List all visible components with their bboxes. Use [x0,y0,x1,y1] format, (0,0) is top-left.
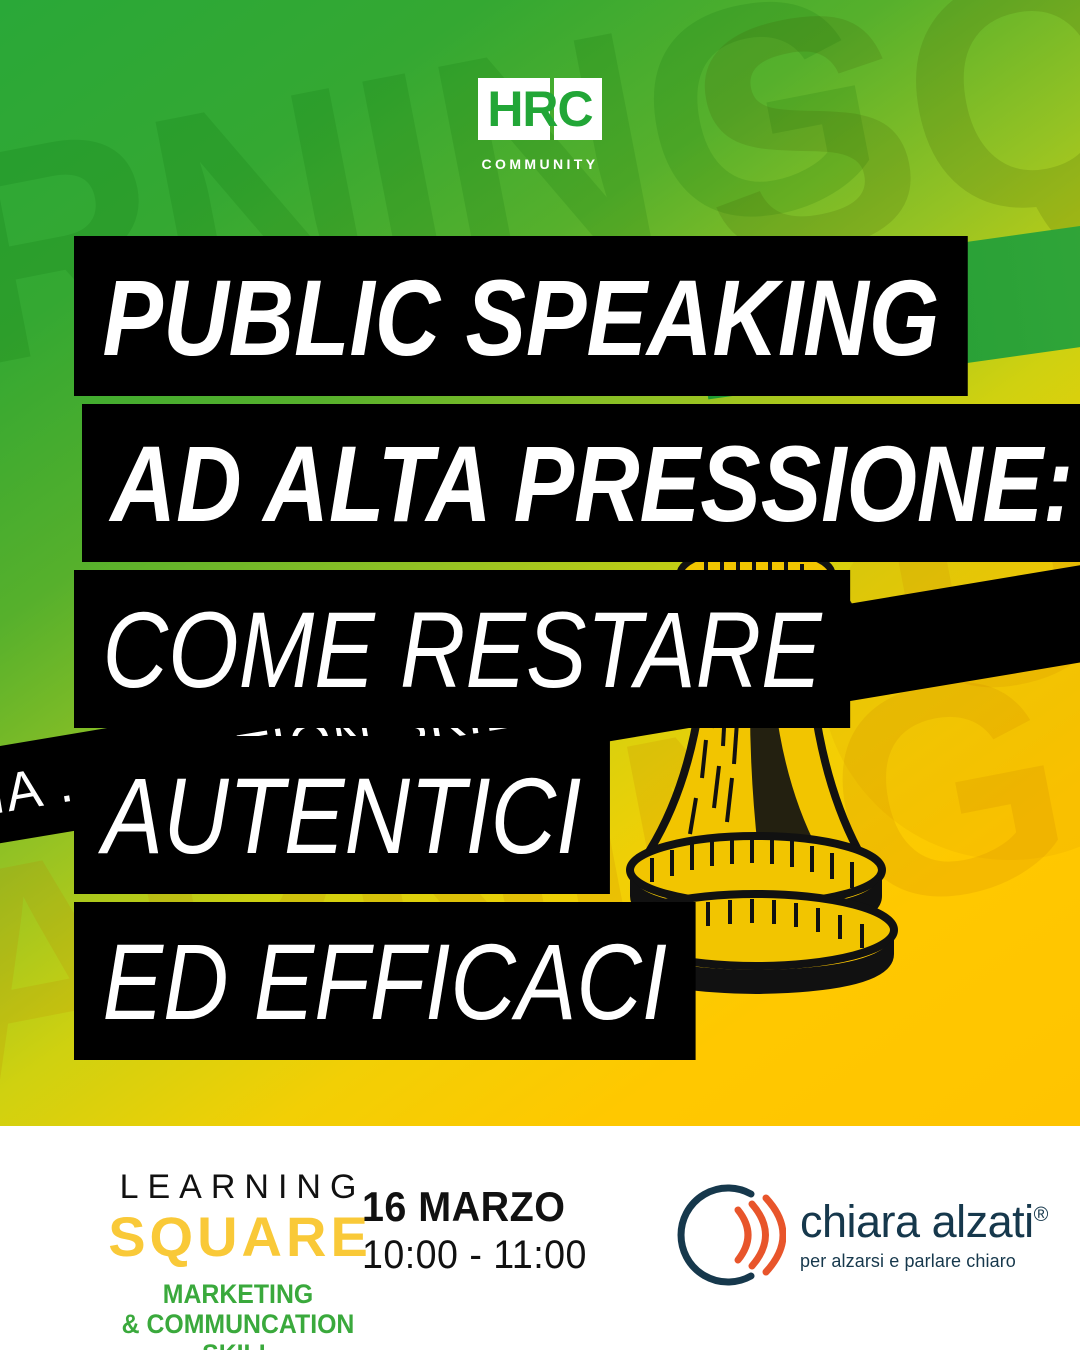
promo-poster: RNING SQU ARNING US [0,0,1080,1350]
learning-square-word-learning: LEARNING [88,1170,388,1204]
chiara-alzati-logo: chiara alzati® per alzarsi e parlare chi… [672,1178,1048,1292]
event-date: 16 MARZO [362,1184,587,1230]
registered-trademark-icon: ® [1034,1204,1048,1226]
title-line-5: ED EFFICACI [74,902,696,1060]
learning-square-word-square: SQUARE [88,1208,388,1267]
hrc-logo-mark: HRC [478,78,602,140]
title-line-2: AD ALTA PRESSIONE: [82,404,1080,562]
hrc-logo: HRC COMMUNITY [0,78,1080,172]
event-datetime: 16 MARZO 10:00 - 11:00 [362,1184,601,1280]
title-line-4: AUTENTICI [74,736,610,894]
hrc-community-label: COMMUNITY [0,156,1080,172]
learning-square-subtitle-marketing: MARKETING [100,1279,376,1309]
learning-square-logo: LEARNING SQUARE MARKETING & COMMUNCATION… [88,1170,388,1350]
speaker-tagline: per alzarsi e parlare chiaro [800,1251,1048,1272]
hrc-logo-letters: HRC [478,78,602,140]
title-line-3: COME RESTARE [74,570,850,728]
sound-wave-circle-icon [672,1178,786,1292]
learning-square-subtitle-communication: & COMMUNCATION SKILL [100,1309,376,1350]
title-block: PUBLIC SPEAKING AD ALTA PRESSIONE: COME … [0,236,1080,1060]
artwork-area: RNING SQU ARNING US [0,0,1080,1126]
chiara-alzati-wordmark: chiara alzati® per alzarsi e parlare chi… [800,1199,1048,1272]
speaker-name: chiara alzati® [800,1199,1048,1244]
event-time: 10:00 - 11:00 [362,1230,587,1280]
speaker-name-text: chiara alzati [800,1196,1034,1247]
title-line-1: PUBLIC SPEAKING [74,236,968,396]
footer-bar: LEARNING SQUARE MARKETING & COMMUNCATION… [0,1126,1080,1350]
